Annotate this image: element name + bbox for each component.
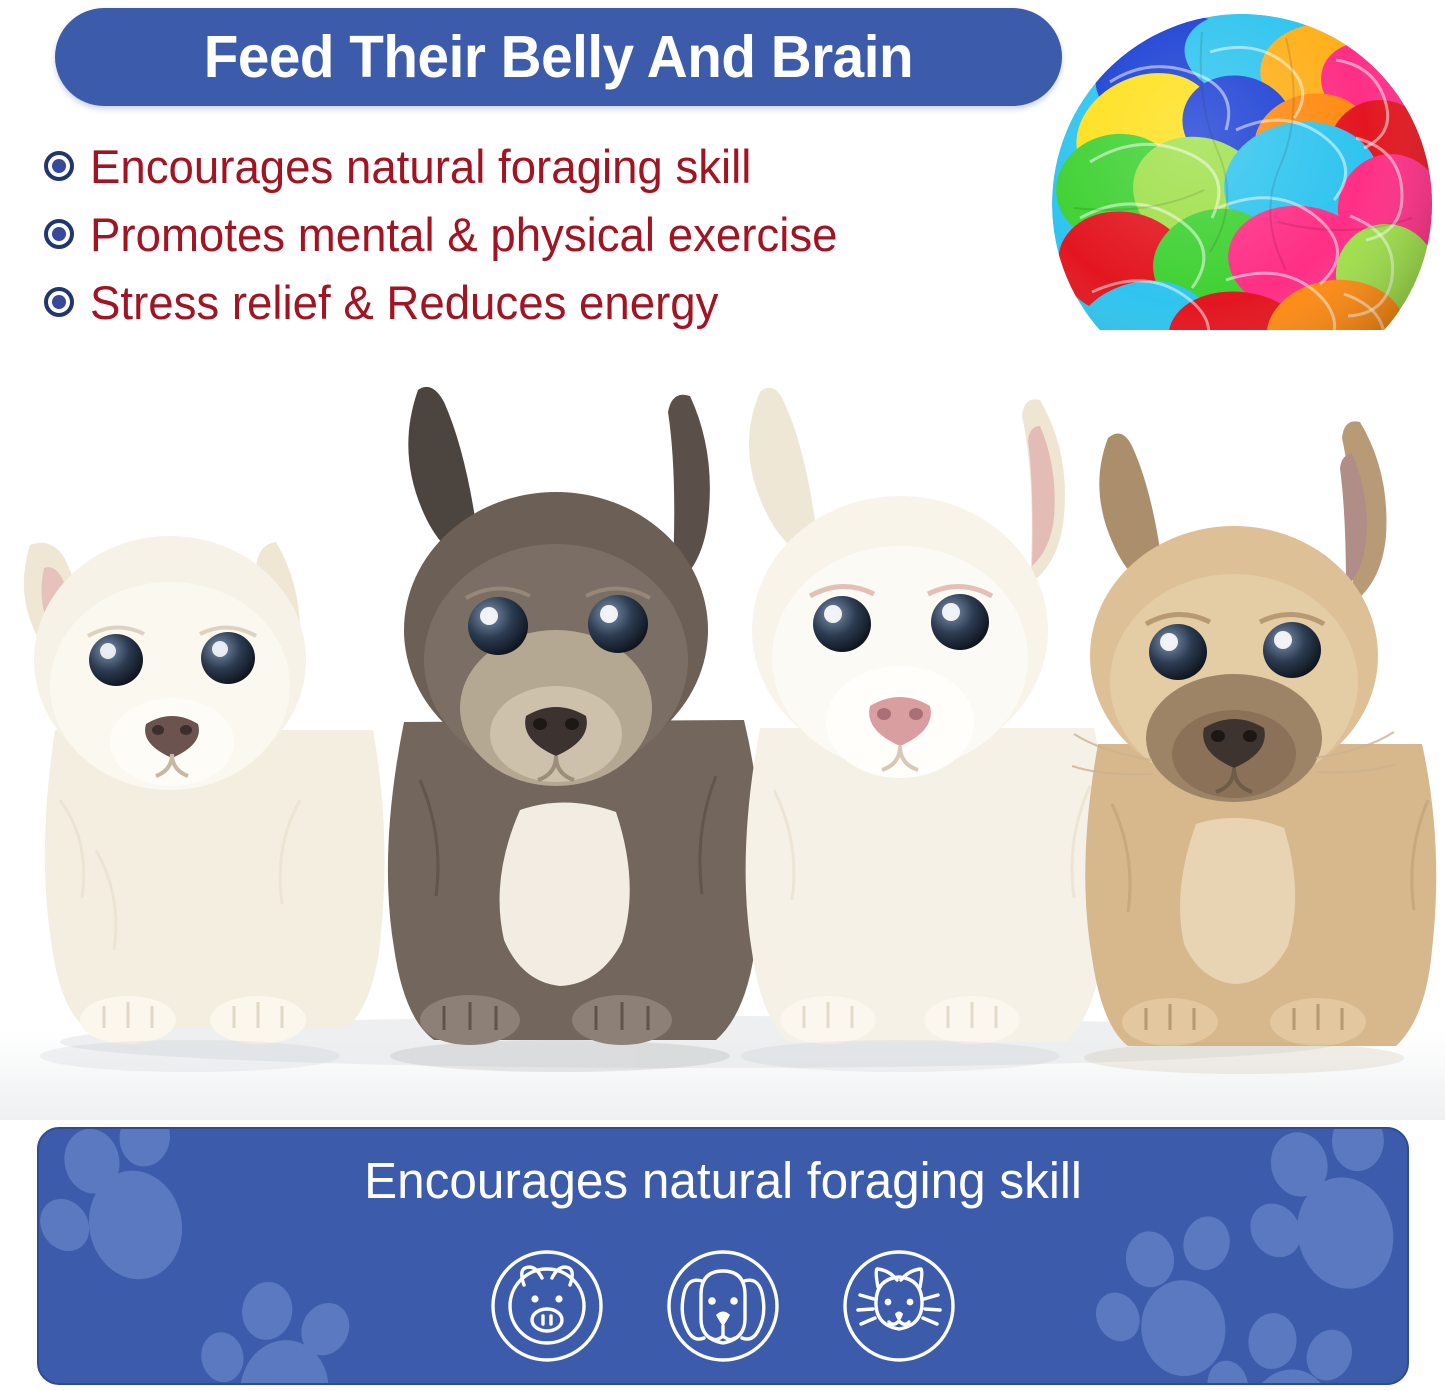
pig-face-icon [488, 1247, 606, 1365]
hero-photo-puppies [0, 330, 1445, 1120]
banner-caption: Encourages natural foraging skill [60, 1151, 1387, 1210]
radio-bullet-icon [44, 151, 74, 181]
list-item: Encourages natural foraging skill [44, 132, 1044, 200]
radio-bullet-icon [44, 219, 74, 249]
feature-label: Stress relief & Reduces energy [90, 275, 718, 330]
cat-face-icon [840, 1247, 958, 1365]
page-title: Feed Their Belly And Brain [204, 23, 913, 91]
list-item: Promotes mental & physical exercise [44, 200, 1044, 268]
animal-icon-row [39, 1247, 1407, 1365]
dog-face-icon [664, 1247, 782, 1365]
feature-list: Encourages natural foraging skill Promot… [44, 132, 1044, 336]
feature-label: Promotes mental & physical exercise [90, 207, 837, 262]
feature-label: Encourages natural foraging skill [90, 139, 751, 194]
radio-bullet-icon [44, 287, 74, 317]
list-item: Stress relief & Reduces energy [44, 268, 1044, 336]
bottom-banner: Encourages natural foraging skill [37, 1127, 1409, 1385]
product-marketing-poster: Feed Their Belly And Brain Encourages na… [0, 0, 1445, 1391]
header-banner: Feed Their Belly And Brain [55, 8, 1062, 106]
